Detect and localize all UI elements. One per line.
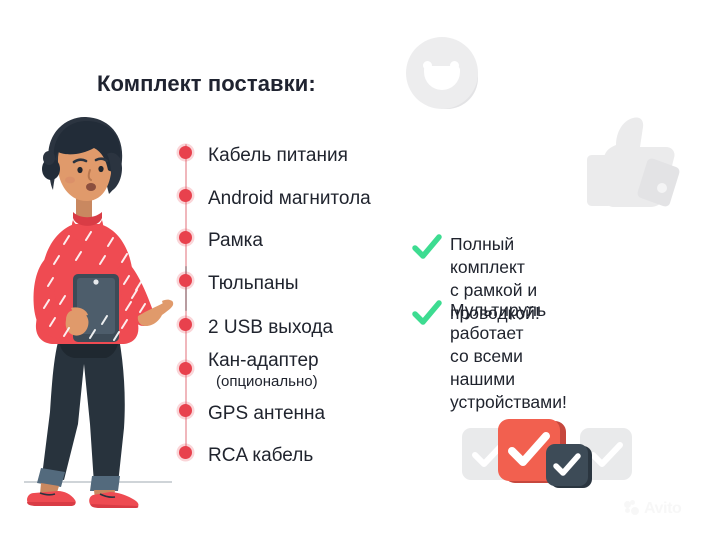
list-connector-line-dark [185,266,187,311]
check-icon [412,234,442,264]
bullet-dot [179,404,192,417]
checkbox-card-dark [546,444,588,486]
bullet-dot [179,446,192,459]
list-item-label: Кан-адаптер [208,351,319,370]
bullet-dot [179,231,192,244]
smiley-face-icon [406,37,478,109]
list-item-label: 2 USB выхода [208,318,333,337]
promo-banner: Комплект поставки: Кабель питания Androi… [0,0,720,540]
checkbox-cards-icon [462,414,632,488]
list-item-label: Тюльпаны [208,274,299,293]
delivery-set-list: Кабель питания Android магнитола Рамка Т… [172,126,472,466]
bullet-dot [179,274,192,287]
benefit-text: Мультируль работает со всеми нашими устр… [450,299,567,414]
bullet-dot [179,146,192,159]
list-item-label: Рамка [208,231,263,250]
thumbs-up-icon [578,115,682,215]
avito-watermark-text: Avito [644,501,681,517]
bullet-dot [179,362,192,375]
page-title: Комплект поставки: [97,71,316,97]
list-item-label: Android магнитола [208,189,371,208]
woman-with-tablet-illustration [14,112,178,508]
avito-watermark: Avito [624,500,681,517]
bullet-dot [179,189,192,202]
list-item-label: RCA кабель [208,446,313,465]
list-item-sublabel: (опционально) [216,374,318,389]
avito-logo-icon [624,500,641,517]
list-item-label: Кабель питания [208,146,348,165]
check-icon [412,300,442,330]
bullet-dot [179,318,192,331]
list-item-label: GPS антенна [208,404,325,423]
